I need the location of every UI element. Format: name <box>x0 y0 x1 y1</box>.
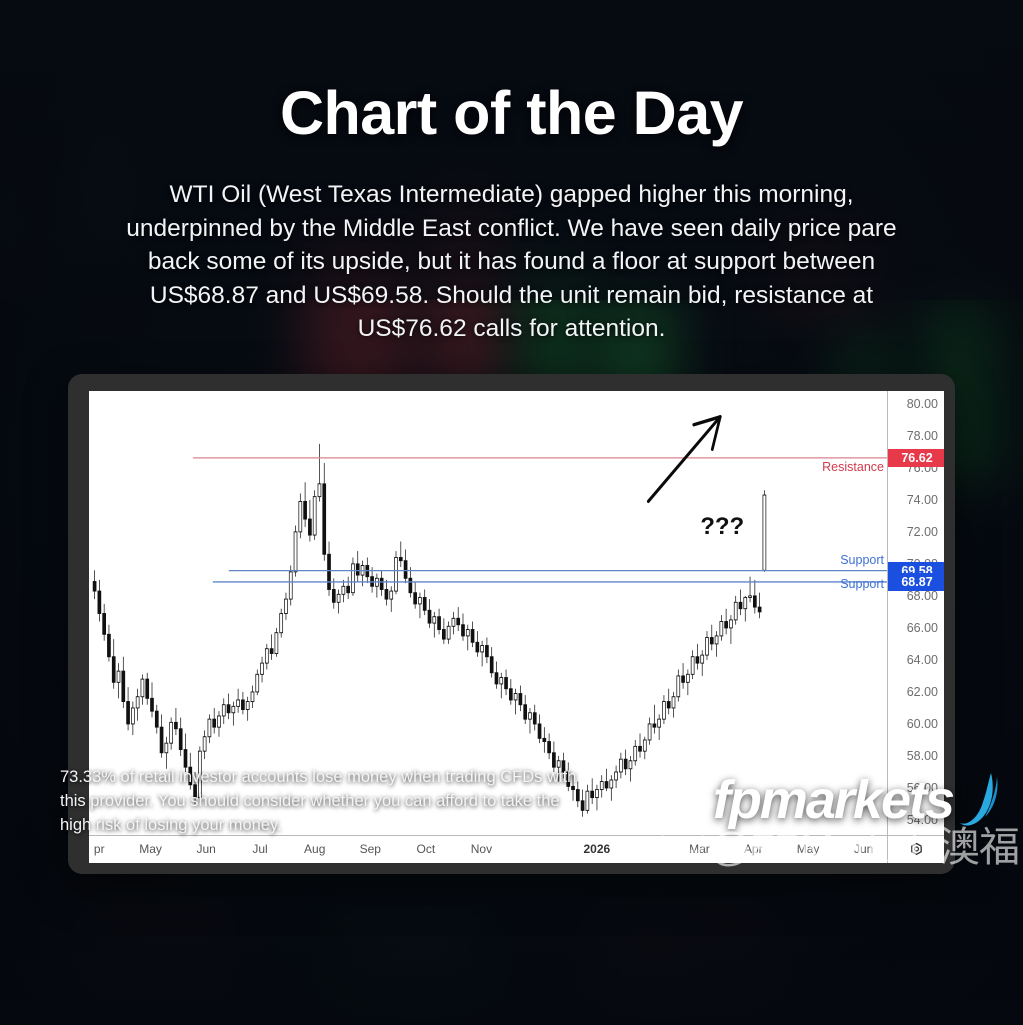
time-tick: Aug <box>304 842 325 856</box>
risk-disclaimer: 73.33% of retail investor accounts lose … <box>60 765 585 837</box>
price-badge-resistance[interactable]: 76.62 <box>888 449 944 467</box>
page-subtitle: WTI Oil (West Texas Intermediate) gapped… <box>117 178 907 346</box>
uncertainty-label: ??? <box>700 513 744 541</box>
price-tick: 62.00 <box>907 685 938 699</box>
price-tick: 66.00 <box>907 621 938 635</box>
level-label-resistance: Resistance <box>822 460 884 474</box>
time-tick: 2026 <box>584 842 611 856</box>
chat-bubble-icon <box>661 823 705 863</box>
time-tick: pr <box>94 842 105 856</box>
price-tick: 74.00 <box>907 493 938 507</box>
level-label-support-upper: Support <box>840 553 884 567</box>
time-tick: Jul <box>252 842 267 856</box>
price-tick: 80.00 <box>907 397 938 411</box>
header: Chart of the Day WTI Oil (West Texas Int… <box>0 0 1023 360</box>
price-tick: 64.00 <box>907 653 938 667</box>
time-tick: Oct <box>417 842 436 856</box>
page-title: Chart of the Day <box>280 78 743 148</box>
time-tick: Sep <box>360 842 381 856</box>
price-tick: 60.00 <box>907 717 938 731</box>
price-tick: 58.00 <box>907 749 938 763</box>
time-tick: Jun <box>196 842 215 856</box>
price-tick: 72.00 <box>907 525 938 539</box>
price-tick: 68.00 <box>907 589 938 603</box>
time-tick: May <box>139 842 162 856</box>
level-label-support-lower: Support <box>840 577 884 591</box>
time-tick: Nov <box>471 842 492 856</box>
price-badge-support-lower[interactable]: 68.87 <box>888 573 944 591</box>
watermark: @FPMarkets澳福 <box>661 813 1019 873</box>
footer: 73.33% of retail investor accounts lose … <box>0 875 1023 1025</box>
price-tick: 78.00 <box>907 429 938 443</box>
watermark-text: @FPMarkets澳福 <box>709 813 1019 873</box>
